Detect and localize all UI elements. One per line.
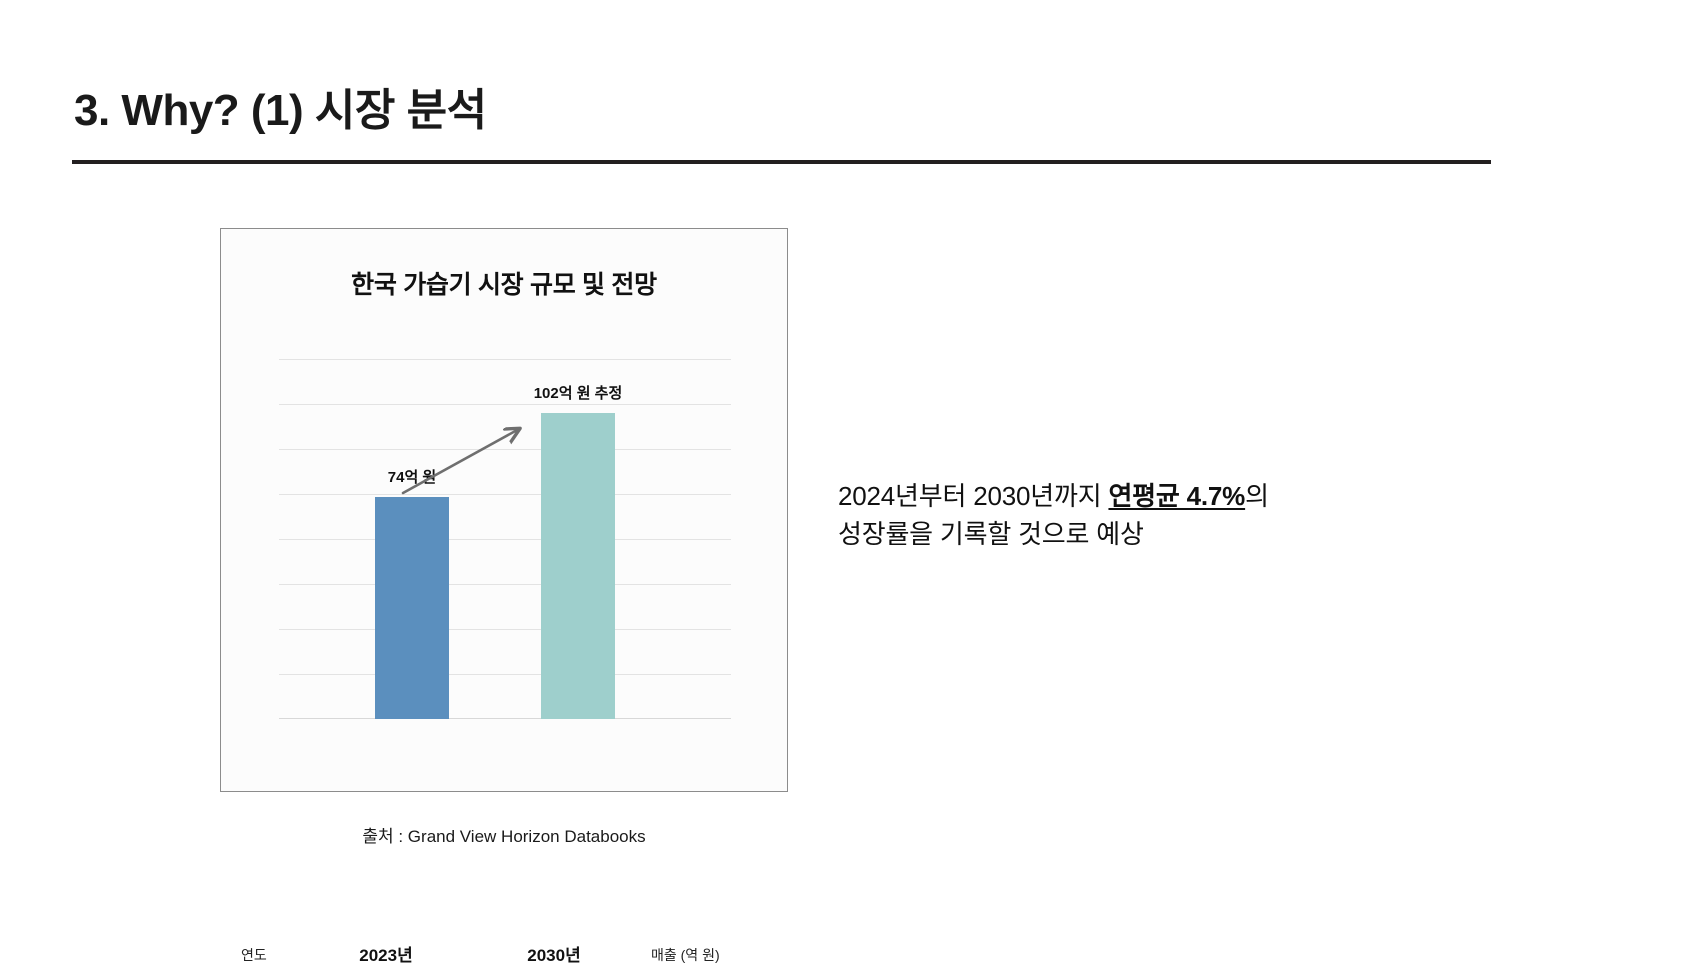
source-caption: 출처 : Grand View Horizon Databooks [220, 822, 788, 847]
market-growth-callout: 2024년부터 2030년까지 연평균 4.7%의 성장률을 기록할 것으로 예… [838, 478, 1478, 553]
category-label-2023: 2023년 [321, 941, 451, 966]
gridline [279, 359, 731, 360]
axis-baseline [279, 718, 731, 719]
axis-label-x: 연도 [241, 945, 267, 965]
callout-line2-text: 성장률을 기록할 것으로 예상 [838, 519, 1144, 549]
callout-lead-text: 2024년부터 2030년까지 [838, 481, 1108, 511]
category-label-2030: 2030년 [489, 941, 619, 966]
bar-2023 [375, 497, 449, 719]
axis-label-y: 매출 (역 원) [651, 945, 720, 965]
chart-card: 한국 가습기 시장 규모 및 전망 74억 원 102억 원 추정 [220, 228, 788, 792]
slide-canvas: 3. Why? (1) 시장 분석 한국 가습기 시장 규모 및 전망 74억 … [0, 0, 1687, 952]
callout-tail-particle: 의 [1245, 481, 1269, 511]
chart-axis-labels: 연도 2023년 2030년 매출 (역 원) [241, 941, 773, 967]
page-title: 3. Why? (1) 시장 분석 [74, 74, 487, 138]
gridline [279, 449, 731, 450]
gridline [279, 674, 731, 675]
bar-value-label-2023: 74억 원 [341, 466, 483, 487]
title-divider [72, 160, 1491, 164]
chart-title: 한국 가습기 시장 규모 및 전망 [221, 265, 787, 301]
callout-emphasis-cagr: 연평균 4.7% [1108, 481, 1245, 511]
bar-value-label-2030: 102억 원 추정 [487, 382, 669, 403]
bar-2030 [541, 413, 615, 719]
gridline [279, 629, 731, 630]
gridline [279, 584, 731, 585]
gridline [279, 539, 731, 540]
gridline [279, 494, 731, 495]
chart-plot-area: 74억 원 102억 원 추정 [279, 359, 731, 719]
gridline [279, 404, 731, 405]
